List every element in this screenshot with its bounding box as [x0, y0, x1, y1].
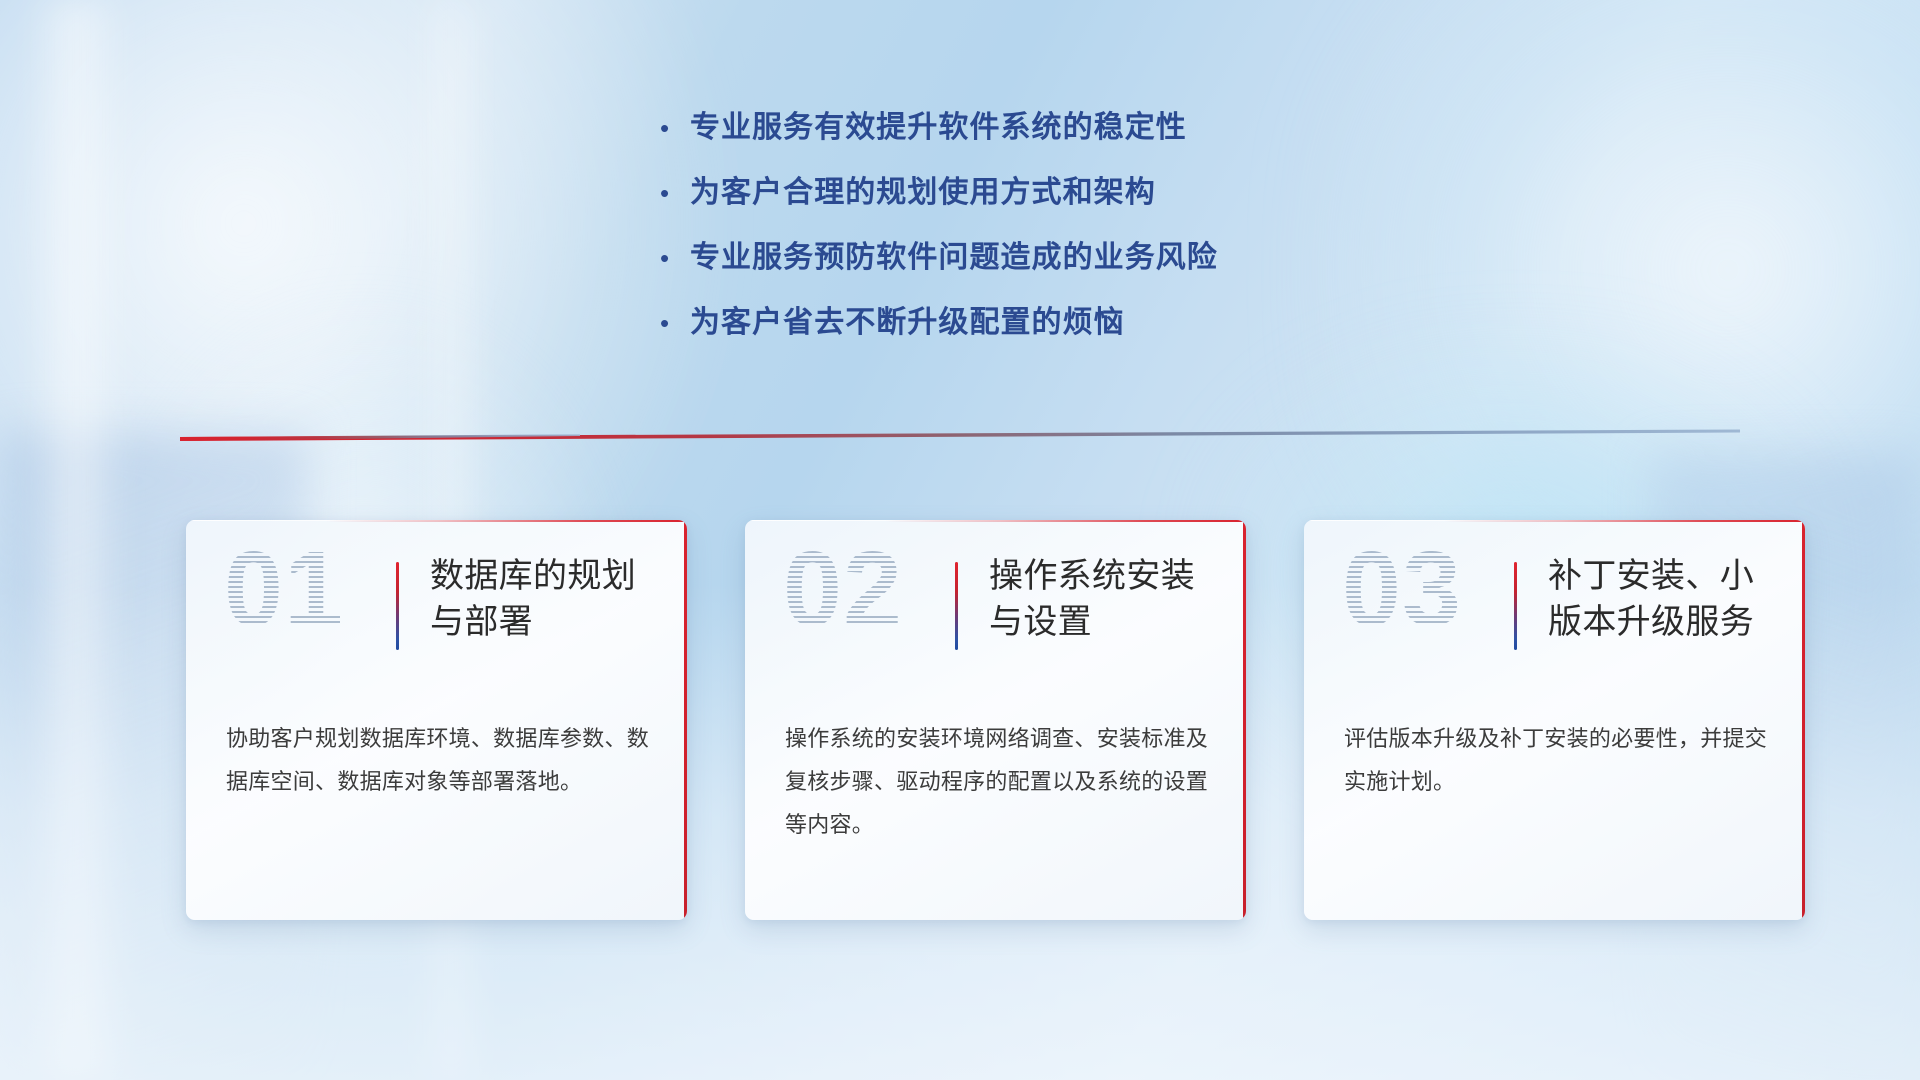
card-divider-bar [1514, 562, 1517, 650]
bullet-text: 专业服务预防软件问题造成的业务风险 [690, 232, 1218, 276]
list-item: • 专业服务有效提升软件系统的稳定性 [660, 102, 1420, 167]
section-divider [180, 424, 1740, 446]
divider-shape-icon [180, 424, 1740, 446]
bullet-text: 为客户合理的规划使用方式和架构 [690, 167, 1156, 211]
benefits-bullet-list: • 专业服务有效提升软件系统的稳定性 • 为客户合理的规划使用方式和架构 • 专… [660, 102, 1420, 362]
card-title: 操作系统安装与设置 [989, 554, 1221, 645]
card-watermark-number: 03 [1342, 536, 1462, 642]
bullet-marker-icon: • [660, 115, 690, 141]
card-header: 01 数据库的规划与部署 [186, 520, 687, 696]
card-header: 03 补丁安装、小版本升级服务 [1304, 520, 1805, 696]
card-watermark-number: 02 [783, 536, 903, 642]
service-card-03[interactable]: 03 补丁安装、小版本升级服务 评估版本升级及补丁安装的必要性，并提交实施计划。 [1304, 520, 1805, 920]
bullet-text: 为客户省去不断升级配置的烦恼 [690, 297, 1125, 341]
card-divider-bar [955, 562, 958, 650]
list-item: • 为客户合理的规划使用方式和架构 [660, 167, 1420, 232]
service-card-row: 01 数据库的规划与部署 协助客户规划数据库环境、数据库参数、数据库空间、数据库… [186, 520, 1806, 920]
card-description: 评估版本升级及补丁安装的必要性，并提交实施计划。 [1344, 718, 1772, 804]
bullet-marker-icon: • [660, 180, 690, 206]
card-description: 操作系统的安装环境网络调查、安装标准及复核步骤、驱动程序的配置以及系统的设置等内… [785, 718, 1213, 847]
list-item: • 专业服务预防软件问题造成的业务风险 [660, 232, 1420, 297]
card-title: 数据库的规划与部署 [430, 554, 662, 645]
bullet-marker-icon: • [660, 245, 690, 271]
card-header: 02 操作系统安装与设置 [745, 520, 1246, 696]
service-card-02[interactable]: 02 操作系统安装与设置 操作系统的安装环境网络调查、安装标准及复核步骤、驱动程… [745, 520, 1246, 920]
bullet-text: 专业服务有效提升软件系统的稳定性 [690, 102, 1187, 146]
card-divider-bar [396, 562, 399, 650]
card-description: 协助客户规划数据库环境、数据库参数、数据库空间、数据库对象等部署落地。 [226, 718, 654, 804]
bullet-marker-icon: • [660, 310, 690, 336]
card-title: 补丁安装、小版本升级服务 [1548, 554, 1780, 645]
list-item: • 为客户省去不断升级配置的烦恼 [660, 297, 1420, 362]
card-watermark-number: 01 [224, 536, 344, 642]
service-card-01[interactable]: 01 数据库的规划与部署 协助客户规划数据库环境、数据库参数、数据库空间、数据库… [186, 520, 687, 920]
